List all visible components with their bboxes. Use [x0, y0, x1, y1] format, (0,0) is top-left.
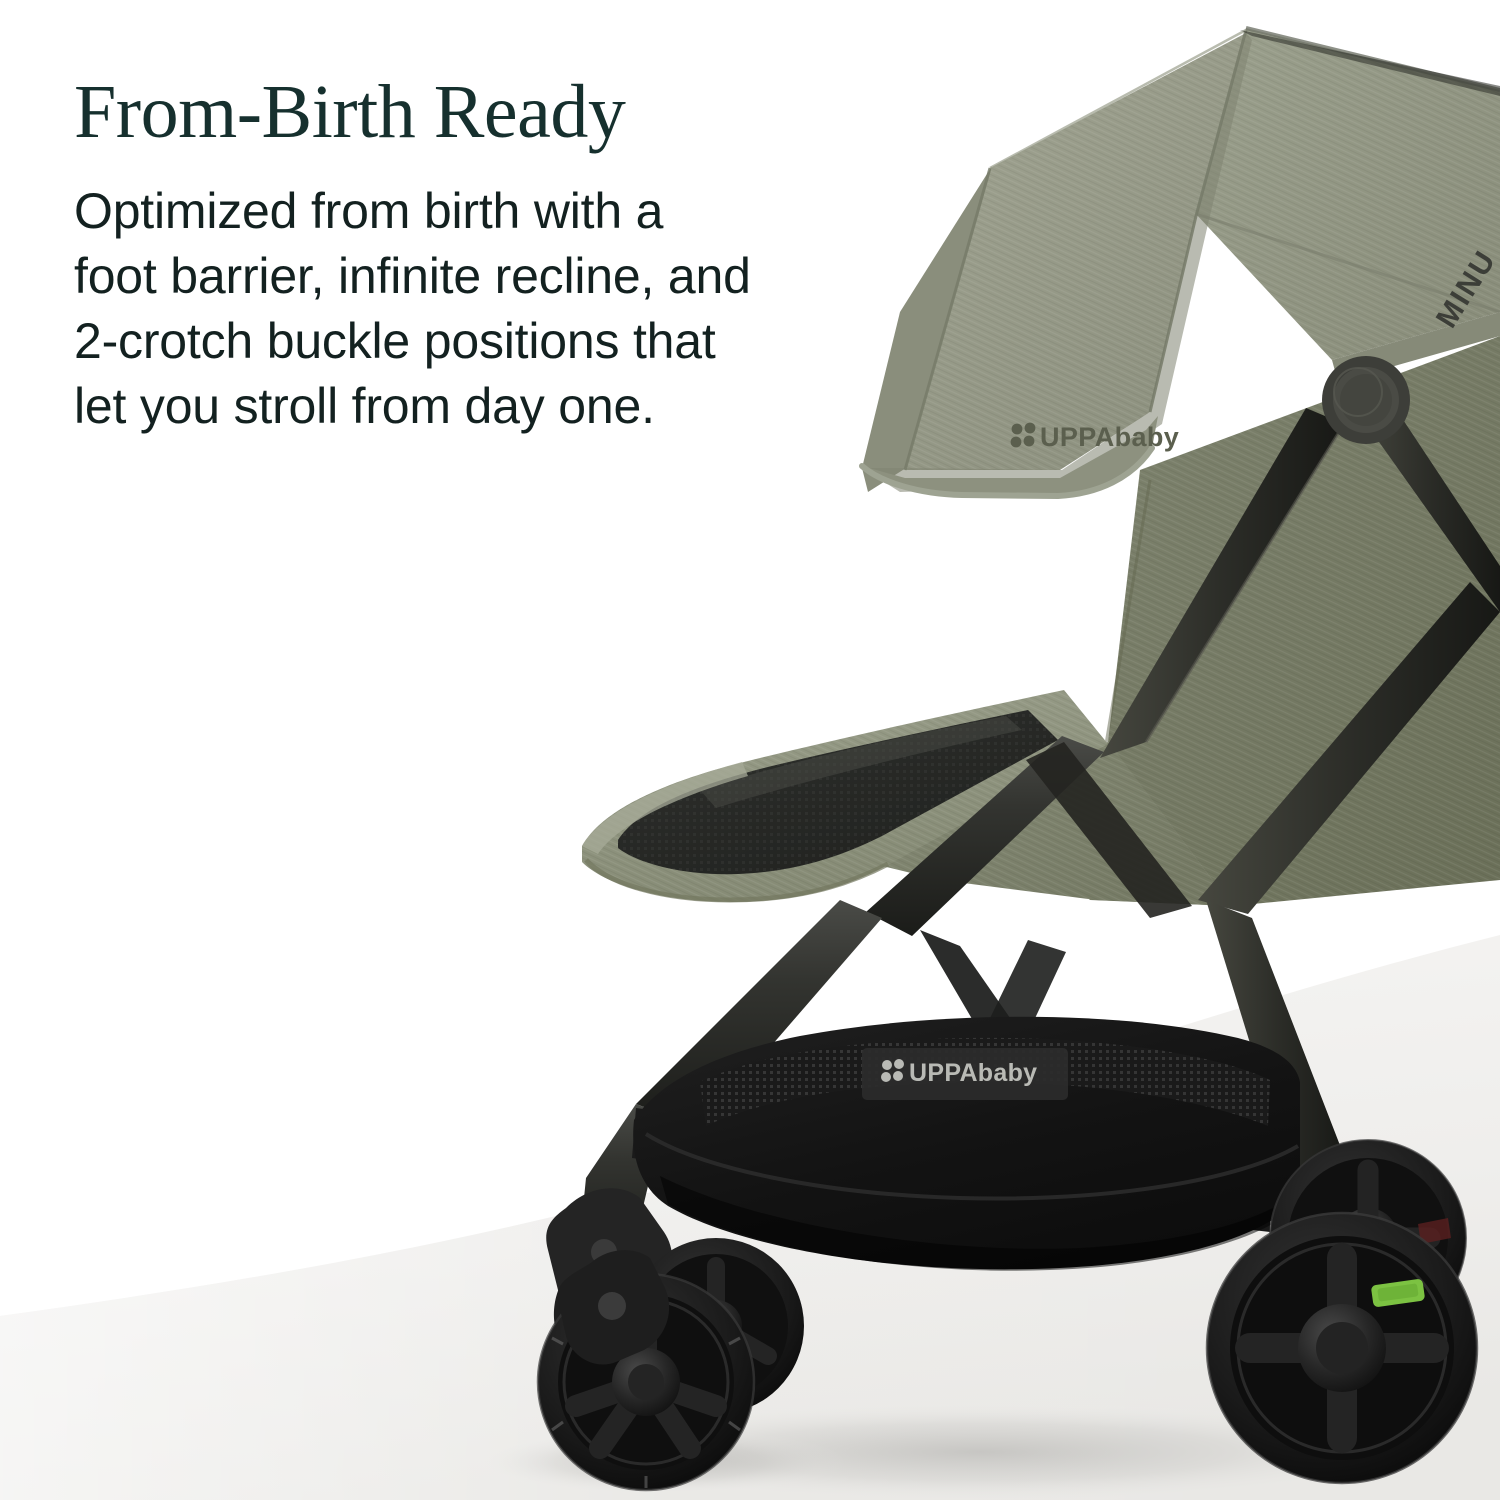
svg-text:UPPAbaby: UPPAbaby [1040, 422, 1179, 452]
canopy-hinge [1322, 356, 1410, 444]
body-line-3: 2-crotch buckle positions that [74, 309, 904, 374]
body-line-4: let you stroll from day one. [74, 374, 904, 439]
body-paragraph: Optimized from birth with a foot barrier… [74, 179, 904, 439]
body-line-2: foot barrier, infinite recline, and [74, 244, 904, 309]
marketing-copy: From-Birth Ready Optimized from birth wi… [74, 72, 904, 439]
svg-text:UPPAbaby: UPPAbaby [909, 1059, 1037, 1087]
body-line-1: Optimized from birth with a [74, 179, 904, 244]
page-title: From-Birth Ready [74, 72, 904, 153]
product-marketing-image: UPPAbaby MINU [0, 0, 1500, 1500]
rear-wheel-near [1207, 1213, 1477, 1483]
basket: UPPAbaby [633, 1017, 1300, 1271]
